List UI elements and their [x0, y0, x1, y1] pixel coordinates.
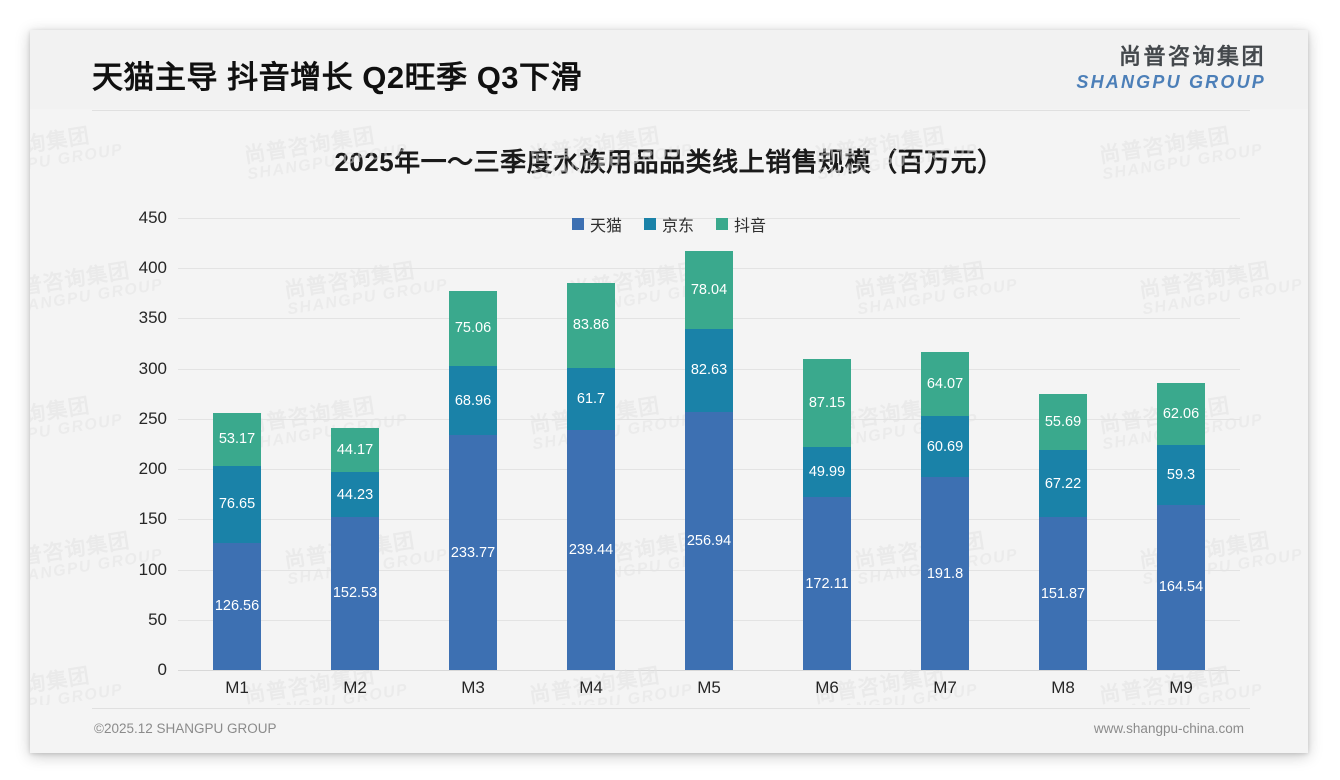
bar-column[interactable]: 83.8661.7239.44 [532, 218, 650, 670]
bar-stack: 44.1744.23152.53 [331, 428, 379, 670]
bar-stack: 53.1776.65126.56 [213, 413, 261, 671]
bar-segment-抖音[interactable]: 55.69 [1039, 394, 1087, 450]
bar-stack: 75.0668.96233.77 [449, 291, 497, 670]
y-axis-tick-label: 250 [139, 409, 167, 429]
x-axis-tick-label: M8 [1004, 678, 1122, 698]
bar-stack: 55.6967.22151.87 [1039, 394, 1087, 670]
legend-label: 天猫 [590, 212, 622, 236]
bar-segment-京东[interactable]: 59.3 [1157, 445, 1205, 505]
bar-stack: 78.0482.63256.94 [685, 251, 733, 670]
bar-column[interactable]: 64.0760.69191.8 [886, 218, 1004, 670]
bar-segment-天猫[interactable]: 152.53 [331, 517, 379, 670]
x-axis-line [178, 670, 1240, 671]
x-axis-tick-label: M5 [650, 678, 768, 698]
legend-item-京东[interactable]: 京东 [644, 212, 694, 236]
y-axis-tick-label: 300 [139, 359, 167, 379]
y-axis-tick-label: 150 [139, 509, 167, 529]
watermark-chinese-text: 尚普咨询集团 [30, 661, 122, 705]
bar-segment-抖音[interactable]: 53.17 [213, 413, 261, 466]
bar-segment-天猫[interactable]: 256.94 [685, 412, 733, 670]
legend-item-天猫[interactable]: 天猫 [572, 212, 622, 236]
bar-stack: 62.0659.3164.54 [1157, 383, 1205, 670]
bar-segment-京东[interactable]: 61.7 [567, 368, 615, 430]
bar-segment-抖音[interactable]: 75.06 [449, 291, 497, 366]
legend-swatch-icon [716, 218, 728, 230]
watermark: 尚普咨询集团SHANGPU GROUP [30, 391, 125, 455]
watermark-chinese-text: 尚普咨询集团 [30, 391, 122, 438]
x-axis-tick-label: M7 [886, 678, 1004, 698]
page-title: 天猫主导 抖音增长 Q2旺季 Q3下滑 [92, 52, 582, 97]
x-axis-tick-label: M6 [768, 678, 886, 698]
brand-logo: 尚普咨询集团 SHANGPU GROUP [1076, 46, 1266, 91]
bar-column[interactable]: 53.1776.65126.56 [178, 218, 296, 670]
y-axis-tick-label: 0 [158, 660, 167, 680]
bar-segment-京东[interactable]: 49.99 [803, 447, 851, 497]
legend-item-抖音[interactable]: 抖音 [716, 212, 766, 236]
bar-column[interactable]: 62.0659.3164.54 [1122, 218, 1240, 670]
bar-segment-抖音[interactable]: 62.06 [1157, 383, 1205, 445]
y-axis-tick-label: 350 [139, 308, 167, 328]
bar-segment-天猫[interactable]: 151.87 [1039, 517, 1087, 670]
bar-stack: 83.8661.7239.44 [567, 283, 615, 670]
bar-segment-抖音[interactable]: 64.07 [921, 352, 969, 416]
logo-english-text: SHANGPU GROUP [1076, 73, 1266, 91]
bar-column[interactable]: 87.1549.99172.11 [768, 218, 886, 670]
bar-segment-天猫[interactable]: 191.8 [921, 477, 969, 670]
bar-segment-京东[interactable]: 67.22 [1039, 450, 1087, 518]
bar-segment-天猫[interactable]: 239.44 [567, 430, 615, 671]
bar-segment-抖音[interactable]: 87.15 [803, 359, 851, 447]
footer-copyright: ©2025.12 SHANGPU GROUP [94, 721, 277, 736]
bar-segment-抖音[interactable]: 83.86 [567, 283, 615, 367]
watermark-english-text: SHANGPU GROUP [30, 682, 125, 705]
logo-chinese-text: 尚普咨询集团 [1076, 46, 1266, 68]
bar-segment-京东[interactable]: 44.23 [331, 472, 379, 516]
watermark: 尚普咨询集团SHANGPU GROUP [30, 661, 125, 705]
bar-segment-天猫[interactable]: 233.77 [449, 435, 497, 670]
bar-column[interactable]: 44.1744.23152.53 [296, 218, 414, 670]
legend-label: 京东 [662, 212, 694, 236]
chart-legend: 天猫京东抖音 [30, 212, 1308, 236]
watermark: 尚普咨询集团SHANGPU GROUP [30, 526, 165, 590]
bar-segment-京东[interactable]: 68.96 [449, 366, 497, 435]
x-axis-tick-label: M2 [296, 678, 414, 698]
x-axis-tick-label: M4 [532, 678, 650, 698]
x-axis-labels: M1M2M3M4M5M6M7M8M9 [178, 678, 1240, 698]
legend-swatch-icon [644, 218, 656, 230]
y-axis-tick-label: 400 [139, 258, 167, 278]
header-divider [92, 110, 1250, 111]
footer-website[interactable]: www.shangpu-china.com [1094, 721, 1244, 736]
bar-stack: 87.1549.99172.11 [803, 359, 851, 670]
x-axis-tick-label: M3 [414, 678, 532, 698]
legend-swatch-icon [572, 218, 584, 230]
bar-segment-京东[interactable]: 76.65 [213, 466, 261, 543]
x-axis-tick-label: M1 [178, 678, 296, 698]
bar-segment-天猫[interactable]: 164.54 [1157, 505, 1205, 670]
bar-column[interactable]: 55.6967.22151.87 [1004, 218, 1122, 670]
bar-series-container: 53.1776.65126.5644.1744.23152.5375.0668.… [178, 218, 1240, 670]
bar-column[interactable]: 75.0668.96233.77 [414, 218, 532, 670]
x-axis-tick-label: M9 [1122, 678, 1240, 698]
y-axis-tick-label: 50 [148, 610, 167, 630]
footer-divider [92, 708, 1250, 709]
slide-card: 天猫主导 抖音增长 Q2旺季 Q3下滑 尚普咨询集团 SHANGPU GROUP… [30, 30, 1308, 753]
watermark-english-text: SHANGPU GROUP [30, 412, 125, 454]
bar-stack: 64.0760.69191.8 [921, 352, 969, 670]
bar-segment-京东[interactable]: 82.63 [685, 329, 733, 412]
bar-segment-抖音[interactable]: 44.17 [331, 428, 379, 472]
slide-header: 天猫主导 抖音增长 Q2旺季 Q3下滑 尚普咨询集团 SHANGPU GROUP [30, 30, 1308, 109]
bar-segment-天猫[interactable]: 126.56 [213, 543, 261, 670]
bar-column[interactable]: 78.0482.63256.94 [650, 218, 768, 670]
y-axis-tick-label: 200 [139, 459, 167, 479]
y-axis-tick-label: 100 [139, 560, 167, 580]
bar-segment-京东[interactable]: 60.69 [921, 416, 969, 477]
bar-segment-抖音[interactable]: 78.04 [685, 251, 733, 329]
chart-plot-area: 450400350300250200150100500 53.1776.6512… [178, 218, 1240, 670]
bar-segment-天猫[interactable]: 172.11 [803, 497, 851, 670]
legend-label: 抖音 [734, 212, 766, 236]
chart-title: 2025年一～三季度水族用品品类线上销售规模（百万元） [30, 142, 1308, 179]
